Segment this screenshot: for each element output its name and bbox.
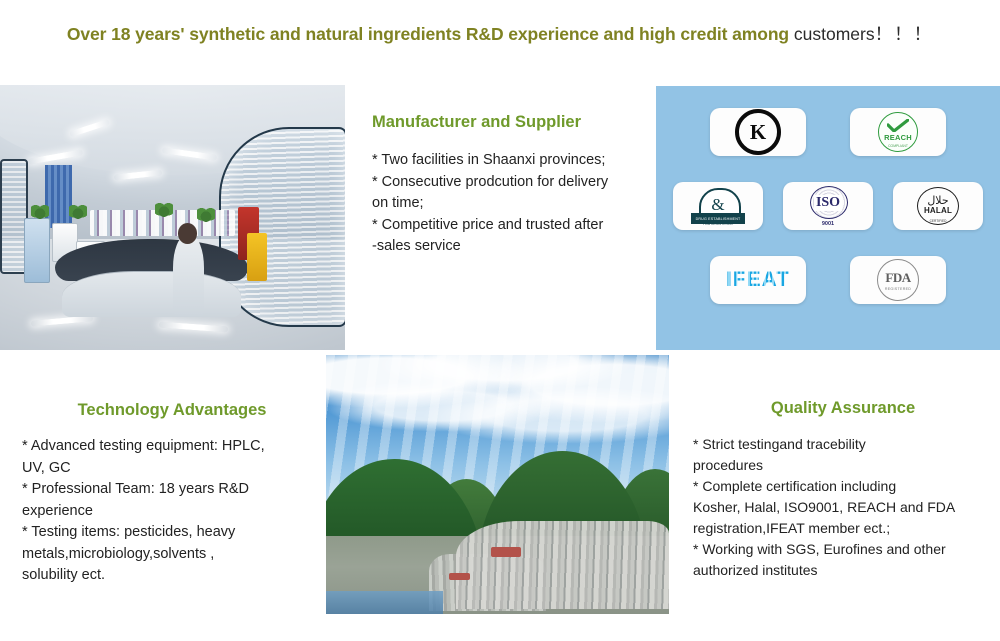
technology-advantages-section: Technology Advantages * Advanced testing… [22, 400, 322, 587]
certification-row: IFEAT FDA REGISTERED [656, 256, 1000, 304]
lab-plant [69, 204, 87, 220]
mountain-town-panorama-photo: 360 aerial panorama of a mountain town w… [326, 355, 669, 614]
town-buildings-main [456, 521, 669, 609]
page-headline: Over 18 years' synthetic and natural ing… [0, 22, 1000, 46]
cert-badge-iso[interactable]: ISO 9001 [783, 182, 873, 230]
cert-badge-reach[interactable]: REACH COMPLIANT [850, 108, 946, 156]
kosher-icon: K [735, 109, 781, 155]
certification-row: & DRUG ESTABLISHMENT FDA REGISTERED ISO … [656, 182, 1000, 230]
headline-exclamations: ！！！ [875, 24, 934, 44]
cert-badge-ifeat[interactable]: IFEAT [710, 256, 806, 304]
lab-plant [197, 207, 215, 223]
fda-icon: FDA REGISTERED [877, 259, 919, 301]
drug-establishment-bar: DRUG ESTABLISHMENT [691, 213, 745, 224]
red-roof [449, 573, 470, 581]
headline-highlight: Over 18 years' synthetic and natural ing… [67, 24, 789, 44]
halal-arabic: حلال [917, 194, 959, 207]
cert-badge-fda[interactable]: FDA REGISTERED [850, 256, 946, 304]
manufacturer-title: Manufacturer and Supplier [372, 112, 652, 132]
fda-sublabel: REGISTERED [885, 287, 911, 291]
drug-establishment-icon: & DRUG ESTABLISHMENT FDA REGISTERED [690, 188, 746, 224]
quality-assurance-section: Quality Assurance * Strict testingand tr… [693, 398, 993, 581]
river [326, 591, 443, 614]
red-roof [491, 547, 522, 557]
reach-icon: REACH COMPLIANT [878, 112, 918, 152]
iso-label: ISO [814, 195, 842, 211]
halal-sublabel: CERTIFIED [917, 219, 959, 223]
lab-yellow-cabinet [247, 233, 268, 281]
check-icon [887, 119, 909, 132]
lab-plant [31, 204, 49, 220]
fda-label: FDA [885, 270, 910, 286]
reach-sublabel: COMPLIANT [879, 144, 917, 148]
quality-assurance-title: Quality Assurance [693, 398, 993, 418]
lab-blue-cabinet [24, 218, 50, 284]
certification-panel: K REACH COMPLIANT & DRUG ESTABLISHMENT F… [656, 86, 1000, 350]
technology-advantages-title: Technology Advantages [22, 400, 322, 420]
technology-advantages-body: * Advanced testing equipment: HPLC, UV, … [22, 436, 322, 587]
lab-plant [155, 202, 173, 218]
ampersand-mark: & [690, 195, 746, 215]
manufacturer-section: Manufacturer and Supplier * Two faciliti… [372, 112, 652, 258]
quality-assurance-body: * Strict testingand tracebility procedur… [693, 434, 993, 581]
reach-label: REACH [884, 133, 912, 142]
cert-badge-halal[interactable]: حلال HALAL CERTIFIED [893, 182, 983, 230]
cert-badge-drug-establishment[interactable]: & DRUG ESTABLISHMENT FDA REGISTERED [673, 182, 763, 230]
manufacturer-body: * Two facilities in Shaanxi provinces; *… [372, 150, 652, 258]
cert-badge-kosher[interactable]: K [710, 108, 806, 156]
laboratory-panorama-photo: 360 panoramic laboratory interior with g… [0, 85, 345, 350]
iso-icon: ISO 9001 [805, 186, 851, 226]
certification-row: K REACH COMPLIANT [656, 108, 1000, 156]
halal-icon: حلال HALAL CERTIFIED [917, 187, 959, 225]
headline-plain: customers [789, 24, 875, 44]
lab-bench-base [62, 271, 241, 317]
lab-technician [173, 236, 204, 316]
iso-number: 9001 [805, 221, 851, 227]
ifeat-icon: IFEAT [726, 268, 790, 292]
